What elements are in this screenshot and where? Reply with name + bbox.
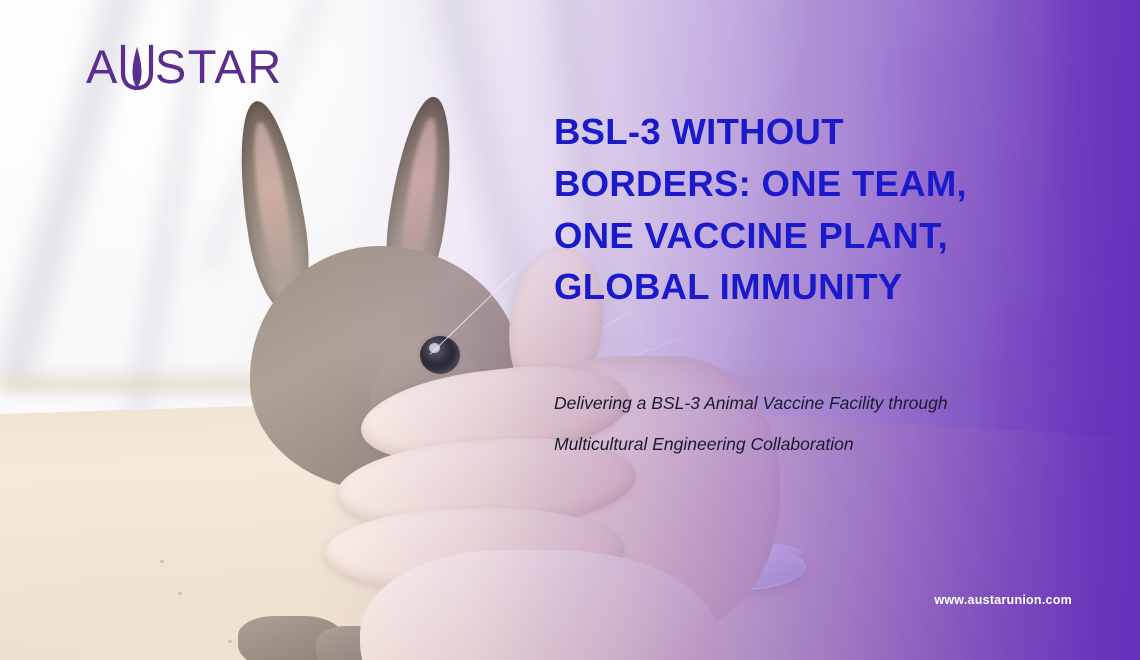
- logo-text-after: STAR: [155, 43, 283, 90]
- subtitle: Delivering a BSL-3 Animal Vaccine Facili…: [554, 383, 1064, 465]
- headline-line-2: BORDERS: ONE TEAM,: [554, 158, 1074, 210]
- subtitle-line-2: Multicultural Engineering Collaboration: [554, 424, 1064, 465]
- headline-line-4: GLOBAL IMMUNITY: [554, 261, 1074, 313]
- marketing-banner: A STAR BSL-3 WITHOUT BORDERS: ONE TEAM, …: [0, 0, 1140, 660]
- austar-logo[interactable]: A STAR: [86, 43, 283, 90]
- subtitle-line-1: Delivering a BSL-3 Animal Vaccine Facili…: [554, 383, 1064, 424]
- tulip-u-icon: [120, 43, 154, 90]
- website-url[interactable]: www.austarunion.com: [934, 593, 1072, 607]
- headline-line-3: ONE VACCINE PLANT,: [554, 210, 1074, 262]
- purple-gradient-overlay: [0, 0, 1140, 660]
- headline: BSL-3 WITHOUT BORDERS: ONE TEAM, ONE VAC…: [554, 106, 1074, 313]
- headline-line-1: BSL-3 WITHOUT: [554, 106, 1074, 158]
- purple-edge-overlay: [1040, 0, 1140, 660]
- logo-text-before: A: [86, 43, 119, 90]
